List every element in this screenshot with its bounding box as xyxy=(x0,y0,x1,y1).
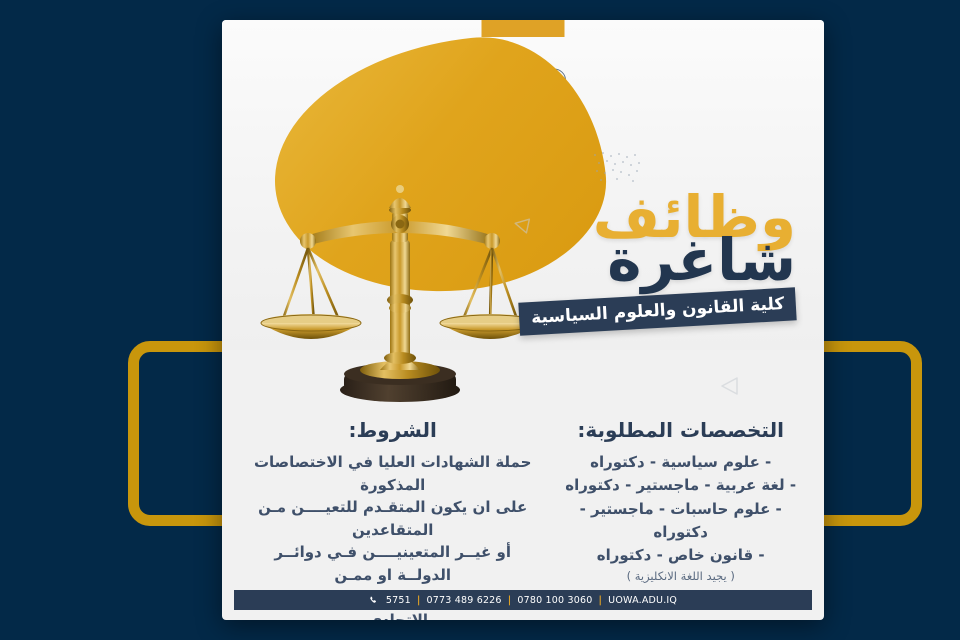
list-item: حملة الشهادات العليا في الاختصاصات المذك… xyxy=(246,451,539,496)
footer-phone-3: 0780 100 3060 xyxy=(517,595,592,606)
contact-footer-bar: 5751 | 0773 489 6226 | 0780 100 3060 | U… xyxy=(234,590,812,610)
footer-separator: | xyxy=(599,595,603,606)
list-item: على ان يكون المتقـدم للتعيــــن مـن المت… xyxy=(246,496,539,541)
poster-card: وظائف شاغرة كلية القانون والعلوم السياسي… xyxy=(222,20,824,620)
list-item: أو غيــر المتعينيــــن فـي دوائــر الدول… xyxy=(246,541,539,586)
list-item: - قانون خاص - دكتوراه xyxy=(561,544,800,567)
triangle-outline-icon xyxy=(719,375,743,401)
footer-separator: | xyxy=(417,595,421,606)
headline-block: وظائف شاغرة كلية القانون والعلوم السياسي… xyxy=(496,190,796,328)
phone-icon xyxy=(369,596,378,605)
list-item: - علوم سياسية - دكتوراه xyxy=(561,451,800,474)
headline-secondary: شاغرة xyxy=(496,234,796,287)
footer-separator: | xyxy=(508,595,512,606)
specializations-note: ( يجيد اللغة الانكليزية ) xyxy=(561,569,800,583)
list-item: - لغة عربية - ماجستير - دكتوراه xyxy=(561,474,800,497)
footer-website: UOWA.ADU.IQ xyxy=(608,595,677,606)
footer-phone-2: 0773 489 6226 xyxy=(427,595,502,606)
footer-phone-1: 5751 xyxy=(386,595,411,606)
list-item: - علوم حاسبات - ماجستير - دكتوراه xyxy=(561,498,800,545)
conditions-heading: الشروط: xyxy=(246,418,539,442)
faculty-name-banner: كلية القانون والعلوم السياسية xyxy=(518,287,797,335)
specializations-heading: التخصصات المطلوبة: xyxy=(561,418,800,442)
gold-tab-accent xyxy=(482,20,565,37)
